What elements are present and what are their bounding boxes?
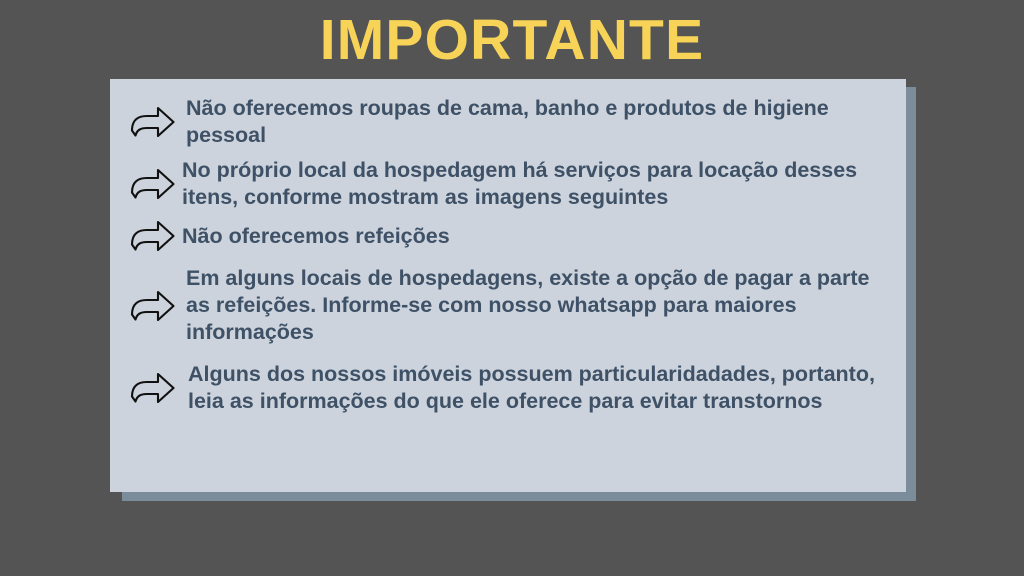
bullet-list: Não oferecemos roupas de cama, banho e p…	[128, 95, 888, 484]
list-item: No próprio local da hospedagem há serviç…	[128, 157, 888, 211]
bent-arrow-right-icon	[128, 219, 176, 253]
list-item: Não oferecemos refeições	[128, 219, 888, 253]
content-card: Não oferecemos roupas de cama, banho e p…	[110, 79, 906, 492]
list-item: Em alguns locais de hospedagens, existe …	[128, 265, 888, 346]
list-item: Alguns dos nossos imóveis possuem partic…	[128, 361, 888, 415]
list-item-label: Não oferecemos refeições	[182, 223, 888, 250]
list-item-label: No próprio local da hospedagem há serviç…	[182, 157, 888, 211]
page-title: IMPORTANTE	[0, 11, 1024, 71]
presentation-slide: IMPORTANTE Não oferecemos roupas de cama…	[0, 0, 1024, 576]
list-item: Não oferecemos roupas de cama, banho e p…	[128, 95, 888, 149]
list-item-label: Não oferecemos roupas de cama, banho e p…	[182, 95, 888, 149]
bent-arrow-right-icon	[128, 371, 176, 405]
bent-arrow-right-icon	[128, 289, 176, 323]
bent-arrow-right-icon	[128, 167, 176, 201]
list-item-label: Em alguns locais de hospedagens, existe …	[182, 265, 888, 346]
list-item-label: Alguns dos nossos imóveis possuem partic…	[182, 361, 888, 415]
bent-arrow-right-icon	[128, 105, 176, 139]
